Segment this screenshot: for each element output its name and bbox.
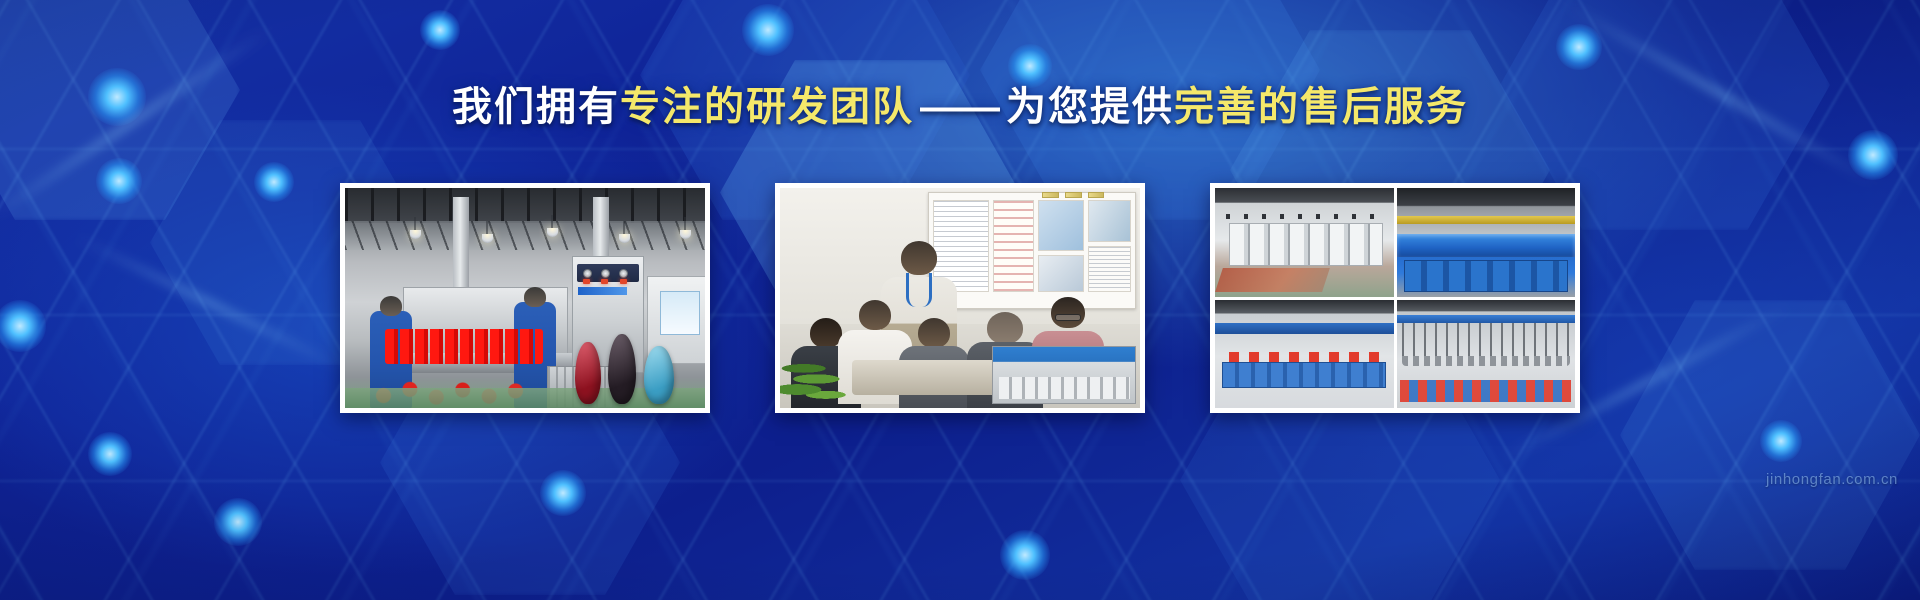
headline-part-3: 为您提供 bbox=[1006, 85, 1174, 129]
production-line-photo[interactable] bbox=[340, 183, 710, 413]
page-title: 我们拥有专注的研发团队——为您提供完善的售后服务 bbox=[0, 84, 1920, 130]
photo-gallery bbox=[0, 183, 1920, 413]
rd-team-meeting-photo[interactable] bbox=[775, 183, 1145, 413]
production-line-image bbox=[345, 188, 705, 408]
glow-node bbox=[1000, 530, 1050, 580]
headline-part-1: 我们拥有 bbox=[452, 85, 620, 129]
factory-facility-collage-photo[interactable] bbox=[1210, 183, 1580, 413]
glow-node bbox=[420, 10, 460, 50]
headline-accent-2: 完善的售后服务 bbox=[1174, 85, 1468, 129]
promo-banner: 我们拥有专注的研发团队——为您提供完善的售后服务 bbox=[0, 0, 1920, 600]
factory-facility-collage-image bbox=[1215, 188, 1575, 408]
glow-node bbox=[214, 498, 262, 546]
site-watermark: jinhongfan.com.cn bbox=[1766, 471, 1898, 488]
headline-accent-1: 专注的研发团队 bbox=[620, 85, 914, 129]
headline-dash: —— bbox=[914, 85, 1006, 129]
glow-node bbox=[88, 432, 132, 476]
rd-team-meeting-image bbox=[780, 188, 1140, 408]
glow-node bbox=[1848, 130, 1898, 180]
